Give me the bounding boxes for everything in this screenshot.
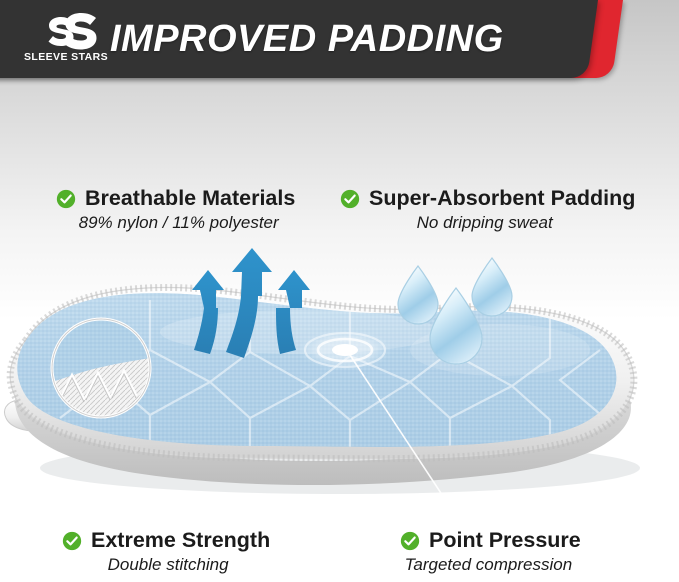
feature-heading-row: Breathable Materials <box>56 186 295 211</box>
feature-heading-row: Extreme Strength <box>62 528 270 553</box>
green-check-icon <box>340 189 360 209</box>
header-content: SLEEVE STARS IMPROVED PADDING <box>0 0 600 78</box>
sleeve-stars-monogram-icon <box>42 13 98 51</box>
feature-extreme-strength: Extreme Strength Double stitching <box>62 528 270 577</box>
feature-heading-row: Super-Absorbent Padding <box>340 186 635 211</box>
feature-super-absorbent-padding: Super-Absorbent Padding No dripping swea… <box>340 186 635 235</box>
feature-title: Point Pressure <box>429 528 581 553</box>
stitching-magnifier <box>52 319 150 417</box>
feature-subtitle: Targeted compression <box>400 553 581 577</box>
page-title: IMPROVED PADDING <box>110 13 580 65</box>
feature-subtitle: 89% nylon / 11% polyester <box>56 211 295 235</box>
feature-title: Extreme Strength <box>91 528 270 553</box>
feature-breathable-materials: Breathable Materials 89% nylon / 11% pol… <box>56 186 295 235</box>
feature-subtitle: No dripping sweat <box>340 211 635 235</box>
header-banner: SLEEVE STARS IMPROVED PADDING <box>0 0 679 82</box>
product-illustration <box>0 240 679 530</box>
brand-name: SLEEVE STARS <box>24 51 108 63</box>
brand-logo: SLEEVE STARS <box>24 13 108 69</box>
feature-title: Super-Absorbent Padding <box>369 186 635 211</box>
feature-title: Breathable Materials <box>85 186 295 211</box>
green-check-icon <box>400 531 420 551</box>
green-check-icon <box>56 189 76 209</box>
pressure-node-marker <box>297 329 393 371</box>
feature-heading-row: Point Pressure <box>400 528 581 553</box>
feature-point-pressure: Point Pressure Targeted compression <box>400 528 581 577</box>
feature-subtitle: Double stitching <box>62 553 270 577</box>
green-check-icon <box>62 531 82 551</box>
infographic-page: SLEEVE STARS IMPROVED PADDING <box>0 0 679 582</box>
